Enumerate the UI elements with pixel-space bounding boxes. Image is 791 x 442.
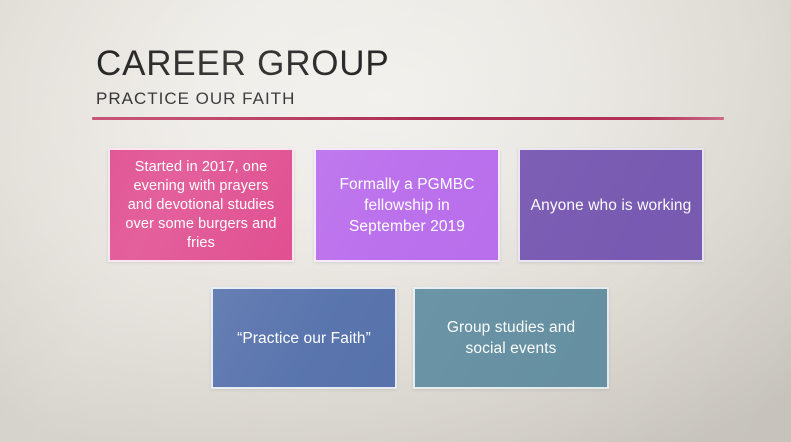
page-title: CAREER GROUP — [96, 44, 736, 84]
content-box-events[interactable]: Group studies and social events — [413, 287, 609, 389]
content-box-fellowship-label: Formally a PGMBC fellowship in September… — [326, 174, 488, 237]
content-box-started-label: Started in 2017, one evening with prayer… — [120, 158, 282, 253]
content-box-practice[interactable]: “Practice our Faith” — [211, 287, 397, 389]
content-box-anyone-label: Anyone who is working — [531, 195, 692, 216]
content-box-practice-label: “Practice our Faith” — [237, 328, 371, 349]
presentation-slide: CAREER GROUP PRACTICE OUR FAITH Started … — [0, 0, 791, 442]
content-box-started[interactable]: Started in 2017, one evening with prayer… — [108, 148, 294, 262]
content-box-anyone[interactable]: Anyone who is working — [518, 148, 704, 262]
content-box-events-label: Group studies and social events — [425, 317, 597, 359]
page-subtitle: PRACTICE OUR FAITH — [96, 89, 736, 109]
content-box-fellowship[interactable]: Formally a PGMBC fellowship in September… — [314, 148, 500, 262]
slide-header: CAREER GROUP PRACTICE OUR FAITH — [96, 44, 736, 109]
title-divider-rule — [92, 117, 724, 120]
